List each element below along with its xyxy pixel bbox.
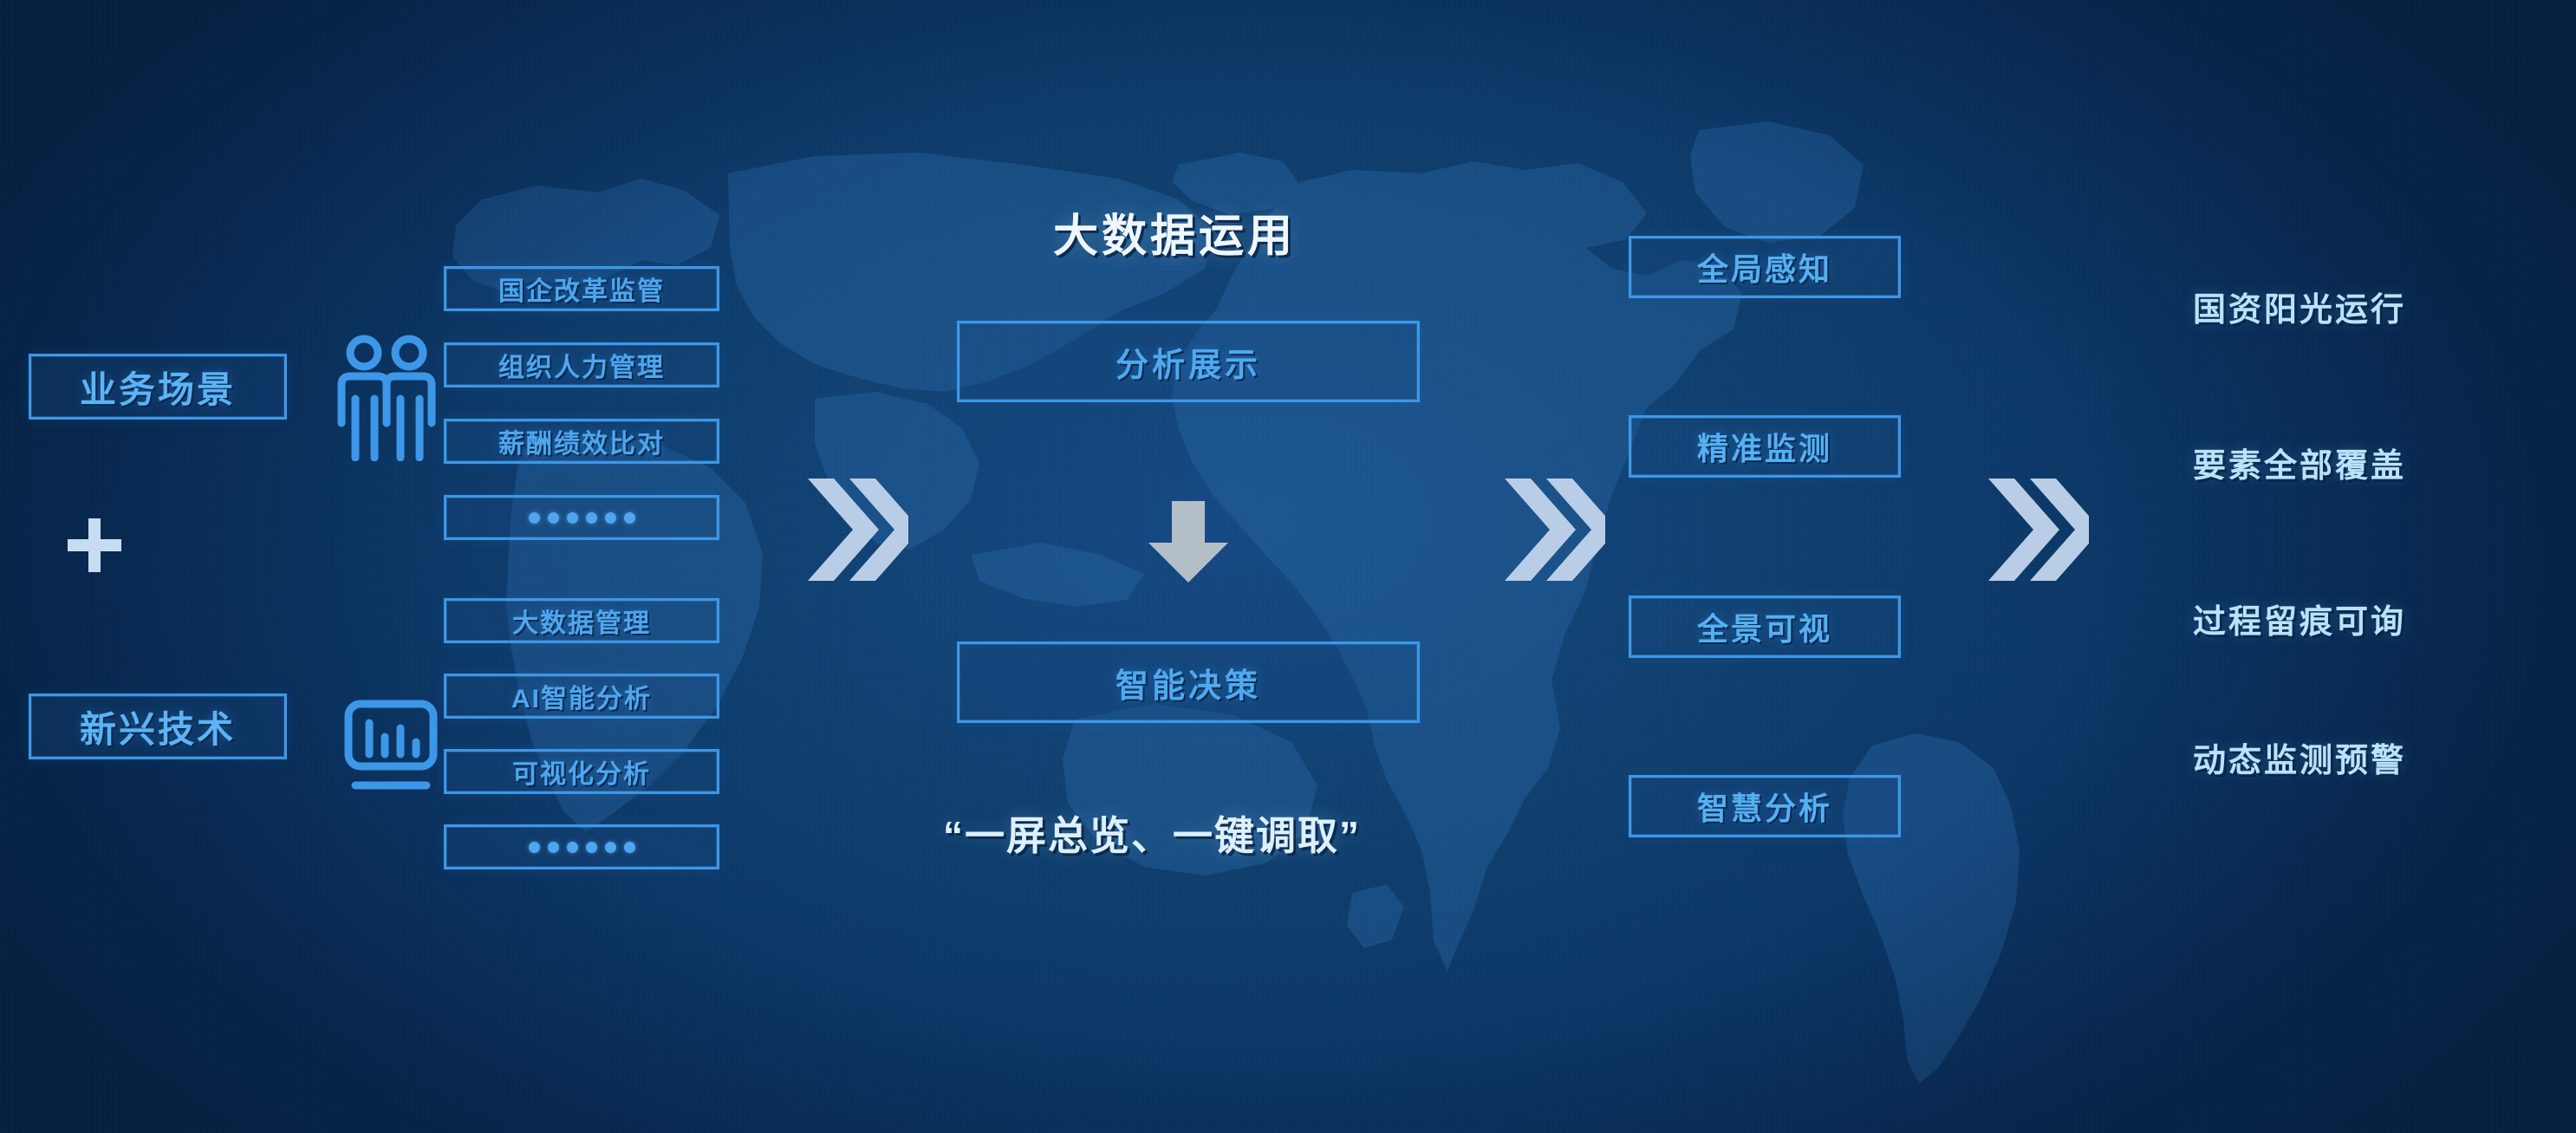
capability-box-0[interactable]: 全局感知: [1629, 236, 1901, 298]
technology-item-1[interactable]: AI智能分析: [444, 674, 719, 719]
capability-box-1[interactable]: 精准监测: [1629, 415, 1901, 478]
center-box-analysis-label: 分析展示: [1116, 338, 1261, 386]
center-box-decision-label: 智能决策: [1116, 659, 1261, 706]
center-box-decision[interactable]: 智能决策: [957, 641, 1420, 723]
technology-item-0[interactable]: 大数据管理: [444, 598, 719, 643]
ellipsis-dots: [529, 512, 635, 524]
scenario-item-2[interactable]: 薪酬绩效比对: [444, 419, 719, 464]
capability-box-2-label: 全景可视: [1697, 604, 1832, 649]
technology-item-1-label: AI智能分析: [511, 677, 652, 715]
technology-item-3[interactable]: [444, 824, 719, 869]
chevron-double-right-icon-2: [1501, 473, 1605, 590]
input-box-technology-label: 新兴技术: [80, 700, 236, 753]
chevron-double-right-icon-3: [1985, 473, 2089, 590]
people-group-icon: [336, 331, 437, 461]
outcome-text-3: 动态监测预警: [2193, 733, 2406, 781]
technology-item-0-label: 大数据管理: [512, 602, 651, 640]
scenario-item-3[interactable]: [444, 495, 719, 540]
scenario-item-0-label: 国企改革监管: [498, 270, 665, 308]
input-box-technology[interactable]: 新兴技术: [29, 693, 287, 759]
outcome-text-2: 过程留痕可询: [2193, 595, 2406, 642]
scenario-item-0[interactable]: 国企改革监管: [444, 266, 719, 311]
ellipsis-dots: [529, 842, 635, 853]
outcome-text-1: 要素全部覆盖: [2193, 439, 2406, 486]
page-title: 大数据运用: [1053, 199, 1296, 264]
capability-box-0-label: 全局感知: [1697, 244, 1832, 290]
center-quote: “一屏总览、一键调取”: [943, 804, 1361, 862]
plus-sign: [68, 518, 121, 572]
scenario-item-1[interactable]: 组织人力管理: [444, 342, 719, 387]
capability-box-1-label: 精准监测: [1697, 424, 1832, 469]
capability-box-3[interactable]: 智慧分析: [1629, 775, 1901, 837]
capability-box-3-label: 智慧分析: [1697, 784, 1832, 829]
input-box-scenario[interactable]: 业务场景: [29, 354, 287, 420]
center-box-analysis[interactable]: 分析展示: [957, 321, 1420, 402]
scenario-item-1-label: 组织人力管理: [498, 346, 665, 384]
input-box-scenario-label: 业务场景: [80, 361, 236, 413]
dashboard-chart-icon: [343, 699, 439, 796]
technology-item-2-label: 可视化分析: [512, 752, 651, 791]
technology-item-2[interactable]: 可视化分析: [444, 749, 719, 794]
capability-box-2[interactable]: 全景可视: [1629, 596, 1901, 658]
outcome-text-0: 国资阳光运行: [2193, 283, 2406, 330]
scenario-item-2-label: 薪酬绩效比对: [498, 422, 665, 460]
down-arrow-icon: [1146, 501, 1231, 589]
chevron-double-right-icon-1: [804, 473, 908, 590]
diagram-canvas: 业务场景 新兴技术: [0, 0, 2576, 1133]
